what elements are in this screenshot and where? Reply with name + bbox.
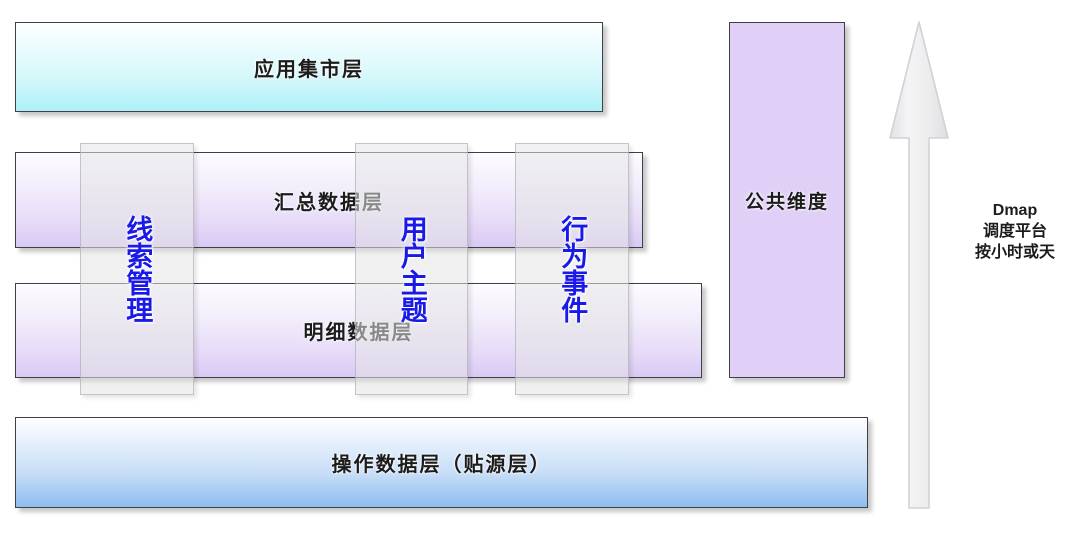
domain-column-clue-management: 线索管理	[80, 143, 194, 395]
arrow-up-icon	[884, 18, 954, 512]
domain-column-behavior-event: 行为事件	[515, 143, 629, 395]
domain-column-user-topic: 用户主题	[355, 143, 468, 395]
common-dimension-label: 公共维度	[745, 187, 829, 214]
diagram-canvas: 应用集市层 汇总数据层 明细数据层 操作数据层（贴源层） 线索管理 用户主题 行…	[0, 0, 1080, 534]
domain-column-label-clue-management: 线索管理	[123, 215, 152, 323]
domain-column-label-user-topic: 用户主题	[397, 215, 426, 323]
layer-label-application-mart: 应用集市层	[254, 53, 364, 82]
scheduler-caption-line-2: 调度平台	[952, 221, 1078, 242]
domain-column-label-behavior-event: 行为事件	[558, 215, 587, 323]
layer-label-operational-data: 操作数据层（贴源层）	[332, 448, 552, 477]
scheduler-caption-line-3: 按小时或天	[952, 242, 1078, 263]
common-dimension-box: 公共维度	[729, 22, 845, 378]
layer-box-application-mart: 应用集市层	[15, 22, 603, 112]
scheduler-caption-line-1: Dmap	[952, 200, 1078, 221]
scheduler-caption: Dmap 调度平台 按小时或天	[952, 200, 1078, 263]
layer-box-operational-data: 操作数据层（贴源层）	[15, 417, 868, 508]
